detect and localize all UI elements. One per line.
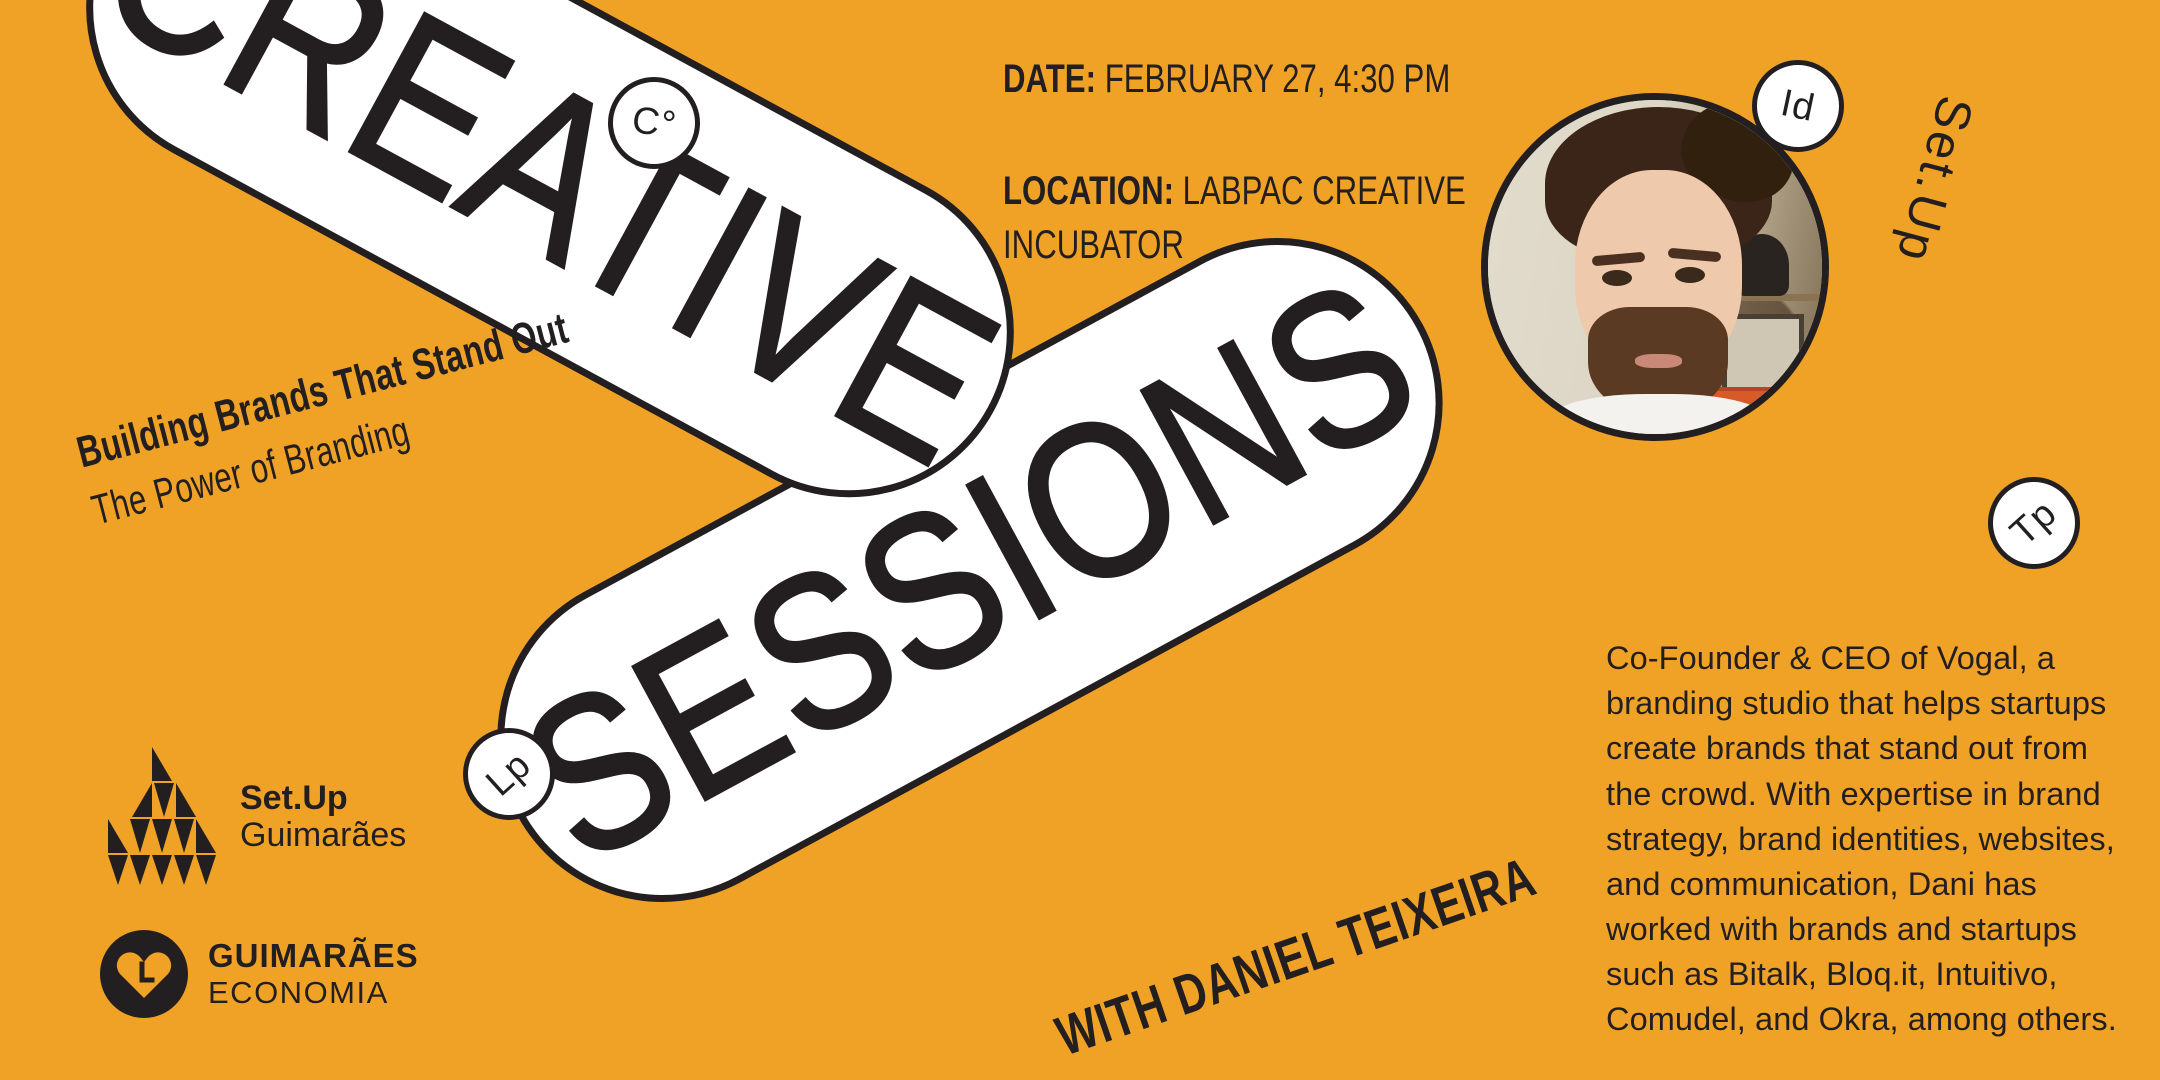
badge-id-label: Id bbox=[1777, 81, 1819, 130]
date-label: DATE: bbox=[1003, 57, 1096, 101]
location-label: LOCATION: bbox=[1003, 169, 1174, 213]
economia-logo-line2: ECONOMIA bbox=[208, 977, 419, 1010]
setup-logo-line2: Guimarães bbox=[240, 818, 406, 852]
portrait-lips bbox=[1635, 354, 1682, 368]
badge-tp-label: Tp bbox=[2002, 492, 2065, 555]
badge-lp-label: Lp bbox=[478, 743, 540, 805]
portrait-shirt bbox=[1548, 394, 1768, 441]
date-value: FEBRUARY 27, 4:30 PM bbox=[1105, 57, 1451, 101]
badge-lp: Lp bbox=[463, 728, 555, 820]
badge-co-label: C° bbox=[629, 99, 679, 148]
event-info-block: DATE: FEBRUARY 27, 4:30 PM LOCATION: LAB… bbox=[1003, 55, 1473, 269]
poster-canvas: CREATIVE SESSIONS C° Id Tp Lp DATE: FEBR… bbox=[0, 0, 2160, 1080]
event-date-line: DATE: FEBRUARY 27, 4:30 PM bbox=[1003, 55, 1370, 104]
logo-setup-guimaraes: Set.Up Guimarães bbox=[100, 745, 406, 887]
portrait-eye-right bbox=[1675, 267, 1705, 283]
setup-logo-text: Set.Up Guimarães bbox=[240, 781, 406, 852]
location-value-line2: INCUBATOR bbox=[1003, 221, 1370, 270]
speaker-credit: WITH DANIEL TEIXEIRA bbox=[1048, 792, 1693, 1068]
portrait-eye-left bbox=[1602, 270, 1632, 286]
economia-logo-text: GUIMARÃES ECONOMIA bbox=[208, 939, 419, 1009]
logo-guimaraes-economia: GUIMARÃES ECONOMIA bbox=[100, 930, 419, 1018]
badge-co: C° bbox=[608, 77, 700, 169]
economia-heart-icon bbox=[100, 930, 188, 1018]
badge-id: Id bbox=[1752, 60, 1844, 152]
event-location-line: LOCATION: LABPAC CREATIVE bbox=[1003, 167, 1370, 216]
economia-logo-line1: GUIMARÃES bbox=[208, 939, 419, 974]
setup-vertical-wordmark: Set.Up bbox=[1885, 90, 1985, 270]
location-value: LABPAC CREATIVE bbox=[1183, 169, 1466, 213]
setup-logo-line1: Set.Up bbox=[240, 781, 406, 815]
badge-tp: Tp bbox=[1988, 477, 2080, 569]
setup-cube-icon bbox=[100, 745, 218, 887]
speaker-credit-text: WITH DANIEL TEIXEIRA bbox=[1048, 844, 1543, 1069]
